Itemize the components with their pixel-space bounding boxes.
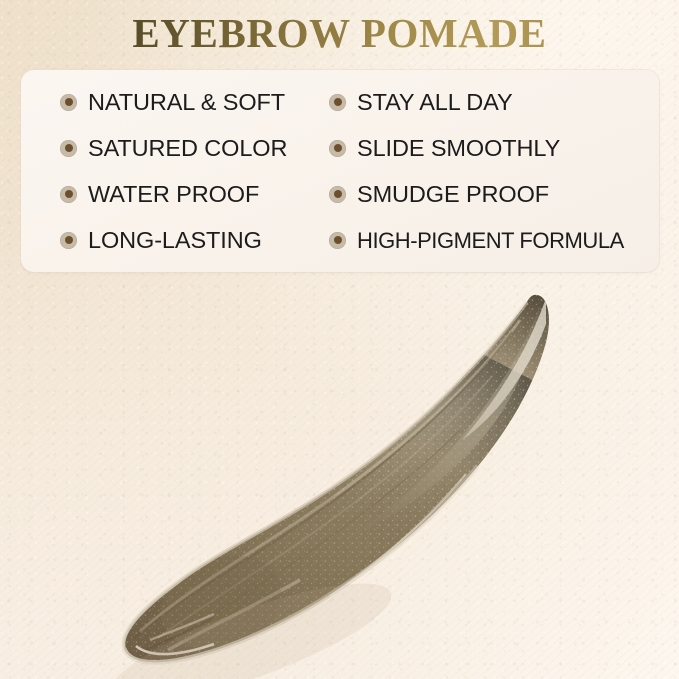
feature-label: HIGH-PIGMENT FORMULA [357,228,624,253]
filled-circle-bullet-icon [329,186,346,203]
pomade-smear-graphic [0,280,679,679]
product-swatch-image [0,280,679,679]
feature-label: STAY ALL DAY [357,90,513,115]
feature-label: SMUDGE PROOF [357,182,549,207]
feature-item-satured-color: SATURED COLOR [21,125,320,171]
filled-circle-bullet-icon [60,186,77,203]
feature-item-long-lasting: LONG-LASTING [21,217,320,263]
feature-item-natural-soft: NATURAL & SOFT [21,79,320,125]
feature-item-smudge-proof: SMUDGE PROOF [320,171,659,217]
filled-circle-bullet-icon [60,140,77,157]
filled-circle-bullet-icon [329,232,346,249]
feature-item-slide-smoothly: SLIDE SMOOTHLY [320,125,659,171]
product-feature-banner: EYEBROW POMADE NATURAL & SOFT STAY ALL D… [0,0,679,679]
filled-circle-bullet-icon [329,94,346,111]
feature-label: SATURED COLOR [88,136,287,161]
feature-item-water-proof: WATER PROOF [21,171,320,217]
feature-item-high-pigment-formula: HIGH-PIGMENT FORMULA [320,217,659,263]
features-grid: NATURAL & SOFT STAY ALL DAY SATURED COLO… [21,70,659,272]
feature-label: SLIDE SMOOTHLY [357,136,560,161]
filled-circle-bullet-icon [60,232,77,249]
filled-circle-bullet-icon [329,140,346,157]
feature-item-stay-all-day: STAY ALL DAY [320,79,659,125]
filled-circle-bullet-icon [60,94,77,111]
feature-label: WATER PROOF [88,182,259,207]
feature-label: LONG-LASTING [88,228,262,253]
feature-label: NATURAL & SOFT [88,90,285,115]
features-card: NATURAL & SOFT STAY ALL DAY SATURED COLO… [21,70,659,272]
page-title: EYEBROW POMADE [0,11,679,55]
